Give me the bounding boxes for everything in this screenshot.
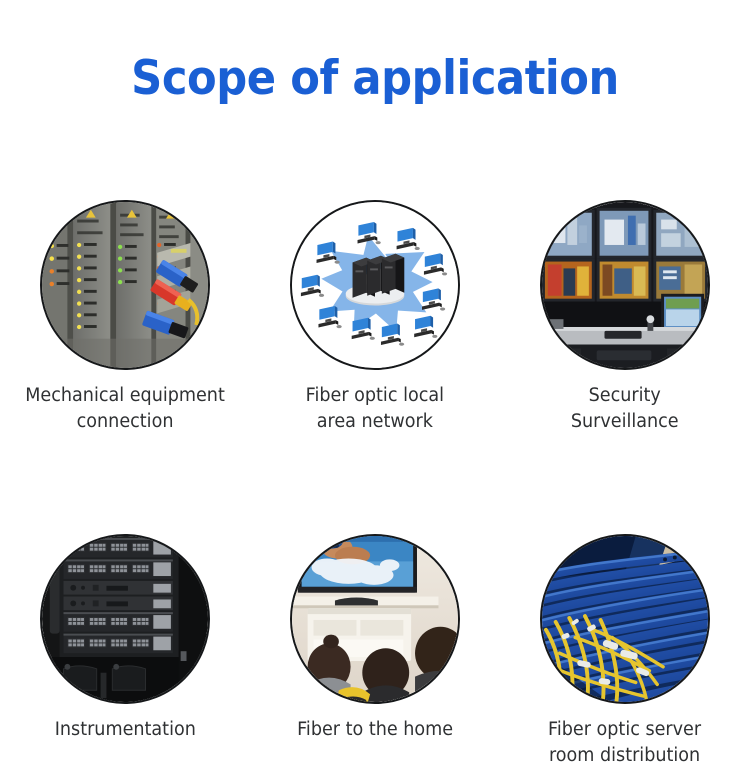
page-title: Scope of application <box>30 55 720 102</box>
application-item-caption: Fiber optic server room distribution <box>548 717 701 768</box>
application-item-mechanical-equipment-connection[interactable]: Mechanical equipment connection <box>0 200 250 434</box>
mechanical-equipment-connection-photo[interactable] <box>40 200 210 370</box>
application-item-security-surveillance[interactable]: Security Surveillance <box>500 200 750 434</box>
application-item-fiber-optic-local-area-network[interactable]: Fiber optic local area network <box>250 200 500 434</box>
application-item-instrumentation[interactable]: Instrumentation <box>0 534 250 768</box>
instrumentation-photo[interactable] <box>40 534 210 704</box>
application-item-caption: Mechanical equipment connection <box>25 383 225 434</box>
grid-row-2: Instrumentation <box>0 534 750 768</box>
fiber-optic-server-room-distribution-photo[interactable] <box>540 534 710 704</box>
application-item-caption: Security Surveillance <box>571 383 679 434</box>
application-item-caption: Instrumentation <box>54 717 195 743</box>
application-item-fiber-to-the-home[interactable]: Fiber to the home <box>250 534 500 768</box>
application-item-fiber-optic-server-room-distribution[interactable]: Fiber optic server room distribution <box>500 534 750 768</box>
application-item-caption: Fiber optic local area network <box>306 383 444 434</box>
security-surveillance-photo[interactable] <box>540 200 710 370</box>
fiber-to-the-home-photo[interactable] <box>290 534 460 704</box>
application-scope-grid: Mechanical equipment connection <box>0 200 750 768</box>
fiber-optic-local-area-network-diagram[interactable] <box>290 200 460 370</box>
grid-row-1: Mechanical equipment connection <box>0 200 750 434</box>
application-item-caption: Fiber to the home <box>297 717 453 743</box>
